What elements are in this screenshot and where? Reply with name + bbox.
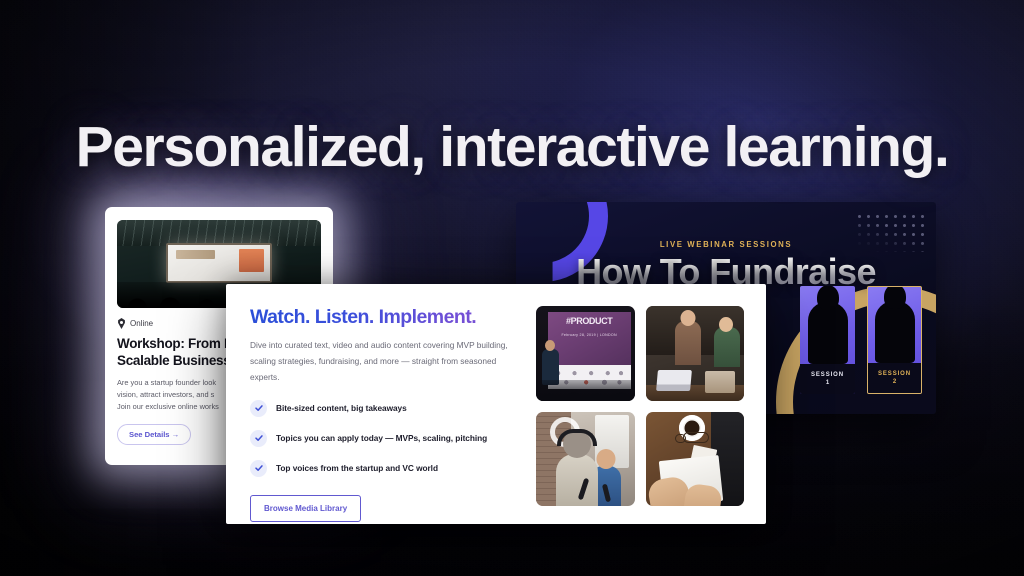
media-feature-list: Bite-sized content, big takeaways Topics…	[250, 400, 518, 477]
people-with-laptops-photo[interactable]	[646, 306, 745, 401]
conference-overlay-title: #PRODUCT	[548, 316, 631, 326]
feature-label-1: Bite-sized content, big takeaways	[276, 403, 407, 413]
see-details-button[interactable]: See Details →	[117, 424, 191, 445]
session-2-label: SESSION	[878, 371, 911, 377]
map-pin-icon	[117, 318, 126, 329]
check-icon	[250, 430, 267, 447]
webinar-kicker: LIVE WEBINAR SESSIONS	[516, 240, 936, 249]
session-1-number: 1	[826, 380, 829, 386]
session-2-number: 2	[893, 379, 896, 385]
check-icon	[250, 460, 267, 477]
webinar-session-list: SESSION 1 SESSION 2	[800, 286, 922, 394]
speaker-silhouette-icon	[875, 301, 915, 363]
feature-label-3: Top voices from the startup and VC world	[276, 463, 438, 473]
page-headline: Personalized, interactive learning.	[0, 118, 1024, 178]
media-card-description: Dive into curated text, video and audio …	[250, 338, 518, 386]
browse-media-library-button[interactable]: Browse Media Library	[250, 495, 361, 522]
workshop-location-label: Online	[130, 319, 153, 328]
session-card-1[interactable]: SESSION 1	[800, 286, 855, 394]
poster-stage: Personalized, interactive learning. Onli…	[0, 0, 1024, 576]
conference-overlay-subtitle: February 28, 2019 | LONDON	[548, 333, 631, 337]
feature-label-2: Topics you can apply today — MVPs, scali…	[276, 433, 487, 443]
check-icon	[250, 400, 267, 417]
desk-flatlay-photo[interactable]	[646, 412, 745, 507]
list-item: Bite-sized content, big takeaways	[250, 400, 518, 417]
podcast-recording-photo[interactable]	[536, 412, 635, 507]
session-card-2[interactable]: SESSION 2	[867, 286, 922, 394]
list-item: Top voices from the startup and VC world	[250, 460, 518, 477]
conference-stage-photo[interactable]: #PRODUCT February 28, 2019 | LONDON	[536, 306, 635, 401]
media-thumbnail-grid: #PRODUCT February 28, 2019 | LONDON	[536, 306, 744, 506]
list-item: Topics you can apply today — MVPs, scali…	[250, 430, 518, 447]
media-library-card[interactable]: Watch. Listen. Implement. Dive into cura…	[226, 284, 766, 524]
speaker-silhouette-icon	[808, 302, 848, 364]
media-card-title: Watch. Listen. Implement.	[250, 306, 518, 329]
session-1-label: SESSION	[811, 372, 844, 378]
